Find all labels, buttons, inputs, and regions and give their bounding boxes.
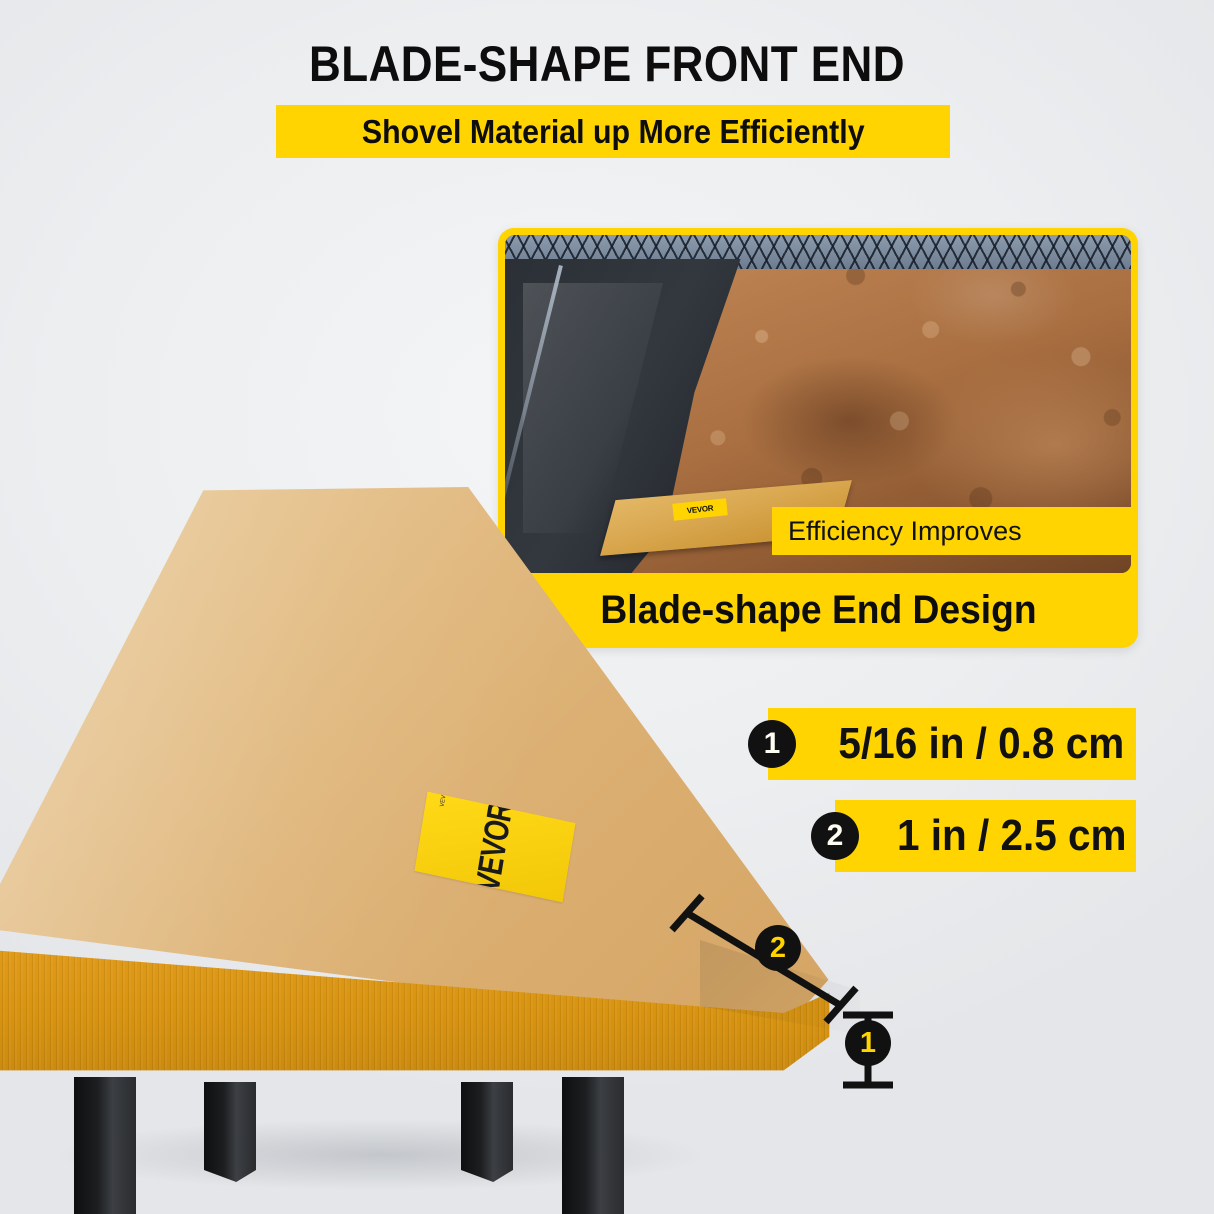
support-leg-outer-right <box>562 1077 624 1214</box>
feature-photo-panel: VEVOR Efficiency Improves Blade-shape En… <box>498 228 1138 648</box>
dimension-marker-1: 1 <box>845 1020 891 1066</box>
page-title: BLADE-SHAPE FRONT END <box>73 35 1141 93</box>
support-leg-inner-right <box>461 1082 513 1182</box>
efficiency-callout-text: Efficiency Improves <box>788 516 1022 547</box>
measurement-legend-label-2: 1 in / 2.5 cm <box>897 811 1127 861</box>
efficiency-callout-tag: Efficiency Improves <box>772 507 1131 555</box>
photo-panel-caption-bar: Blade-shape End Design <box>498 573 1138 648</box>
measurement-marker-badge-1: 1 <box>748 720 796 768</box>
dimension-cap-2-start <box>672 896 702 930</box>
sticker-brand-mark: VEVOR <box>468 799 521 895</box>
subtitle-text: Shovel Material up More Efficiently <box>362 113 865 151</box>
measurement-marker-badge-2: 2 <box>811 812 859 860</box>
measurement-legend-2: 1 in / 2.5 cm 2 <box>811 800 1136 872</box>
measurement-legend-1: 5/16 in / 0.8 cm 1 <box>748 708 1136 780</box>
feature-photo: VEVOR Efficiency Improves <box>505 235 1131 573</box>
support-leg-inner-left <box>204 1082 256 1182</box>
support-leg-outer-left <box>74 1077 136 1214</box>
subtitle-banner: Shovel Material up More Efficiently <box>276 105 950 158</box>
dimension-marker-2: 2 <box>755 925 801 971</box>
infographic-canvas: BLADE-SHAPE FRONT END Shovel Material up… <box>0 0 1214 1214</box>
measurement-legend-bar-1: 5/16 in / 0.8 cm <box>768 708 1136 780</box>
photo-panel-caption: Blade-shape End Design <box>600 588 1036 633</box>
measurement-legend-bar-2: 1 in / 2.5 cm <box>835 800 1136 872</box>
measurement-legend-label-1: 5/16 in / 0.8 cm <box>838 719 1124 769</box>
dimension-lines <box>640 880 940 1100</box>
